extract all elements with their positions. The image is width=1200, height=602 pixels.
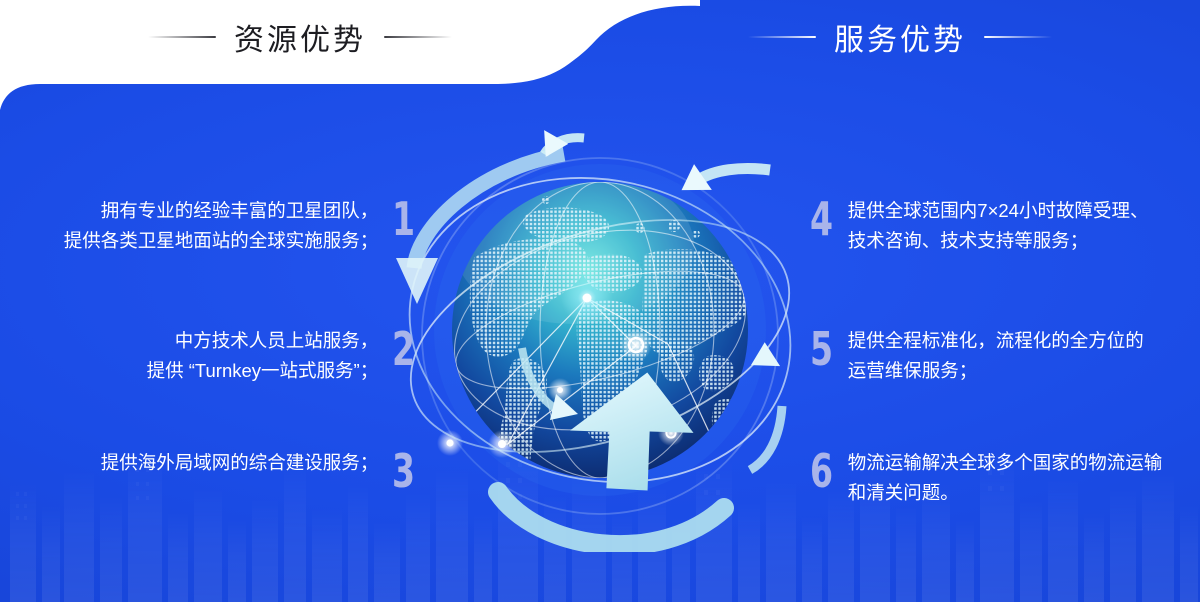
list-item-number: 5: [810, 326, 832, 372]
list-item-line: 提供各类卫星地面站的全球实施服务；: [64, 226, 379, 256]
list-item-line: 和清关问题。: [848, 478, 1163, 508]
list-item-text: 提供全球范围内7×24小时故障受理、 技术咨询、技术支持等服务；: [848, 196, 1149, 256]
header-right-title: 服务优势: [834, 15, 966, 59]
list-item: 4 提供全球范围内7×24小时故障受理、 技术咨询、技术支持等服务；: [810, 196, 1148, 256]
list-item-text: 中方技术人员上站服务， 提供 “Turnkey一站式服务”；: [147, 326, 379, 386]
header-dash-left-icon: [148, 36, 216, 38]
slide-canvas: 资源优势 服务优势 拥有专业的经验丰富的卫星团队， 提供各类卫星地面站的全球实施…: [0, 0, 1200, 602]
header-dash-right-icon: [984, 36, 1052, 38]
list-item-text: 物流运输解决全球多个国家的物流运输 和清关问题。: [848, 448, 1163, 508]
list-item: 中方技术人员上站服务， 提供 “Turnkey一站式服务”； 2: [0, 326, 420, 386]
list-item-number: 4: [810, 196, 832, 242]
list-item-number: 6: [810, 448, 832, 494]
globe-network-graphic: [378, 108, 822, 552]
list-item: 5 提供全程标准化，流程化的全方位的 运营维保服务；: [810, 326, 1144, 386]
header-dash-right-icon: [384, 36, 452, 38]
list-item: 6 物流运输解决全球多个国家的物流运输 和清关问题。: [810, 448, 1162, 508]
list-item-line: 中方技术人员上站服务，: [147, 326, 379, 356]
header-service-advantage: 服务优势: [600, 14, 1200, 60]
header-resource-advantage: 资源优势: [0, 14, 600, 60]
list-item-line: 运营维保服务；: [848, 356, 1144, 386]
list-item-line: 提供全球范围内7×24小时故障受理、: [848, 196, 1149, 226]
list-item-number: 1: [392, 196, 414, 242]
header-dash-left-icon: [748, 36, 816, 38]
list-item-line: 提供 “Turnkey一站式服务”；: [147, 356, 379, 386]
list-item-line: 提供全程标准化，流程化的全方位的: [848, 326, 1144, 356]
list-item-line: 物流运输解决全球多个国家的物流运输: [848, 448, 1163, 478]
list-item-line: 拥有专业的经验丰富的卫星团队，: [64, 196, 379, 226]
list-item-number: 2: [392, 326, 414, 372]
list-item-text: 提供全程标准化，流程化的全方位的 运营维保服务；: [848, 326, 1144, 386]
list-item-text: 提供海外局域网的综合建设服务；: [101, 448, 379, 478]
list-item: 拥有专业的经验丰富的卫星团队， 提供各类卫星地面站的全球实施服务； 1: [0, 196, 420, 256]
list-item-line: 提供海外局域网的综合建设服务；: [101, 448, 379, 478]
header-left-title: 资源优势: [234, 15, 366, 59]
list-item: 提供海外局域网的综合建设服务； 3: [0, 448, 420, 494]
list-item-line: 技术咨询、技术支持等服务；: [848, 226, 1149, 256]
list-item-text: 拥有专业的经验丰富的卫星团队， 提供各类卫星地面站的全球实施服务；: [64, 196, 379, 256]
list-item-number: 3: [392, 448, 414, 494]
